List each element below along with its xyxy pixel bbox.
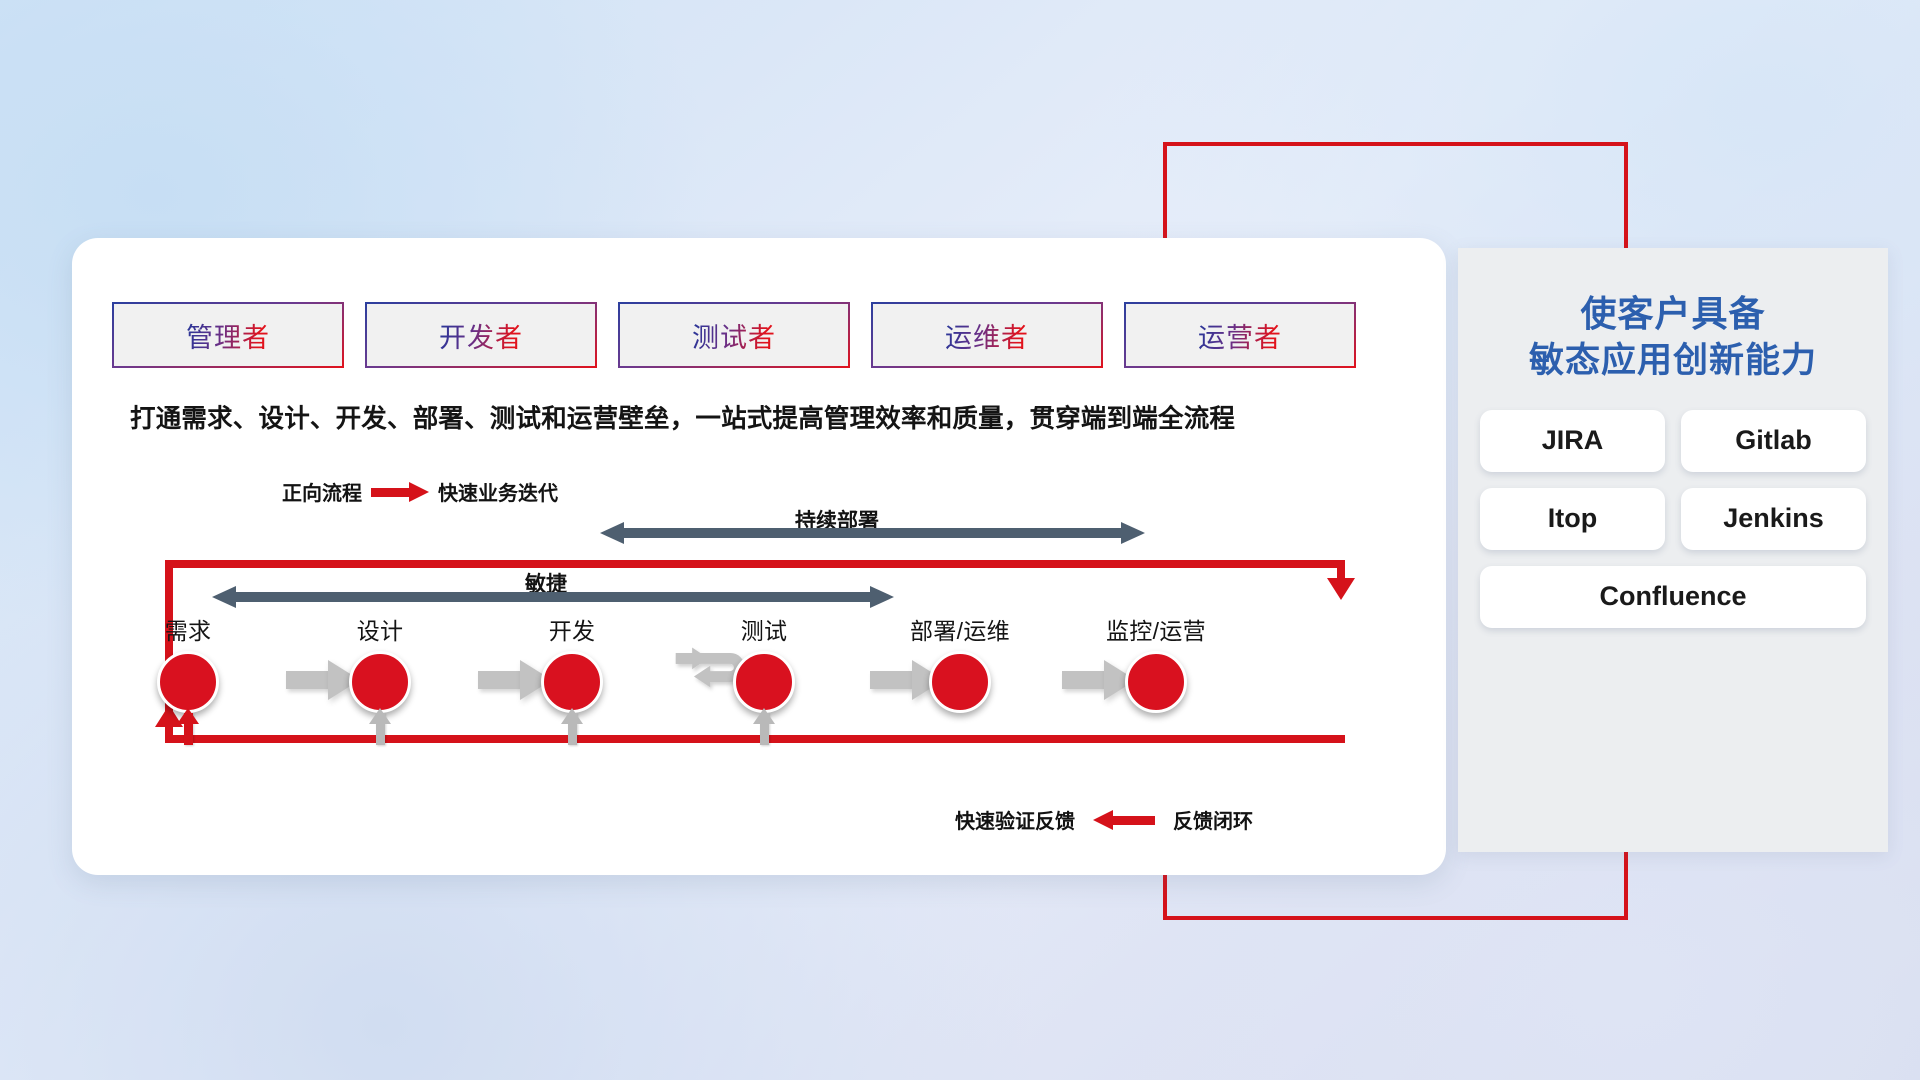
panel-title-line1: 使客户具备: [1580, 293, 1765, 334]
stem-arrowhead-gray-icon: [369, 708, 391, 724]
role-box-tester[interactable]: 测试者: [618, 302, 850, 368]
stage-label: 需求: [118, 612, 258, 646]
stage-dot: [929, 651, 991, 713]
red-bracket-top: [1163, 142, 1628, 146]
arrow-right-red-icon: [371, 485, 429, 499]
continuous-deployment-double-arrow-icon: [600, 522, 1145, 544]
tool-button-confluence[interactable]: Confluence: [1480, 566, 1866, 628]
feedback-legend: 快速验证反馈 反馈闭环: [955, 805, 1253, 834]
forward-flow-source-label: 正向流程: [282, 477, 362, 506]
role-box-manager[interactable]: 管理者: [112, 302, 344, 368]
feedback-source-label: 反馈闭环: [1173, 805, 1253, 834]
role-label: 运维者: [945, 316, 1029, 355]
forward-flow-legend: 正向流程 快速业务迭代: [282, 477, 558, 506]
slide-canvas: 管理者 开发者 测试者 运维者 运营者 打通需求、设计、开发、部署、测试和运营壁…: [0, 0, 1920, 1080]
role-box-ops[interactable]: 运维者: [871, 302, 1103, 368]
value-panel: 使客户具备 敏态应用创新能力 JIRA Gitlab Itop Jenkins …: [1458, 248, 1888, 852]
red-bracket-left-upper: [1163, 142, 1167, 242]
pipeline-stage-testing[interactable]: 测试: [694, 612, 834, 745]
stem-arrowhead-red-icon: [177, 708, 199, 724]
stem-arrowhead-gray-icon: [561, 708, 583, 724]
stage-label: 部署/运维: [890, 612, 1030, 646]
tool-button-jira[interactable]: JIRA: [1480, 410, 1665, 472]
stage-dot: [733, 651, 795, 713]
stage-dot: [349, 651, 411, 713]
red-bracket-bottom: [1163, 916, 1628, 920]
stem-arrowhead-gray-icon: [753, 708, 775, 724]
forward-flow-target-label: 快速业务迭代: [438, 477, 558, 506]
panel-title: 使客户具备 敏态应用创新能力: [1458, 248, 1888, 384]
feedback-target-label: 快速验证反馈: [955, 805, 1075, 834]
tool-button-itop[interactable]: Itop: [1480, 488, 1665, 550]
role-box-row: 管理者 开发者 测试者 运维者 运营者: [112, 302, 1356, 368]
pipeline-stage-design[interactable]: 设计: [310, 612, 450, 745]
description-text: 打通需求、设计、开发、部署、测试和运营壁垒，一站式提高管理效率和质量，贯穿端到端…: [130, 398, 1440, 435]
role-label: 开发者: [439, 316, 523, 355]
role-box-operations[interactable]: 运营者: [1124, 302, 1356, 368]
pipeline-stage-requirements[interactable]: 需求: [118, 612, 258, 745]
stage-dot: [157, 651, 219, 713]
role-box-developer[interactable]: 开发者: [365, 302, 597, 368]
arrow-left-red-icon: [1093, 813, 1155, 827]
stage-label: 开发: [502, 612, 642, 646]
tool-button-gitlab[interactable]: Gitlab: [1681, 410, 1866, 472]
red-bracket-right-upper: [1624, 142, 1628, 262]
stage-dot: [541, 651, 603, 713]
pipeline-stage-deploy-ops[interactable]: 部署/运维: [890, 612, 1030, 713]
stage-label: 监控/运营: [1086, 612, 1226, 646]
role-label: 管理者: [186, 316, 270, 355]
feedback-loop-top-line: [165, 560, 1345, 568]
feedback-loop-down-arrow-icon: [1327, 578, 1355, 600]
devops-pipeline: 需求 设计 开发: [118, 612, 1378, 742]
stage-label: 设计: [310, 612, 450, 646]
role-label: 测试者: [692, 316, 776, 355]
tool-button-jenkins[interactable]: Jenkins: [1681, 488, 1866, 550]
panel-title-line2: 敏态应用创新能力: [1458, 338, 1888, 384]
pipeline-stage-development[interactable]: 开发: [502, 612, 642, 745]
stage-label: 测试: [694, 612, 834, 646]
agile-double-arrow-icon: [212, 586, 894, 608]
tool-button-grid: JIRA Gitlab Itop Jenkins Confluence: [1480, 410, 1866, 628]
pipeline-stage-monitor-operations[interactable]: 监控/运营: [1086, 612, 1226, 713]
role-label: 运营者: [1198, 316, 1282, 355]
stage-dot: [1125, 651, 1187, 713]
